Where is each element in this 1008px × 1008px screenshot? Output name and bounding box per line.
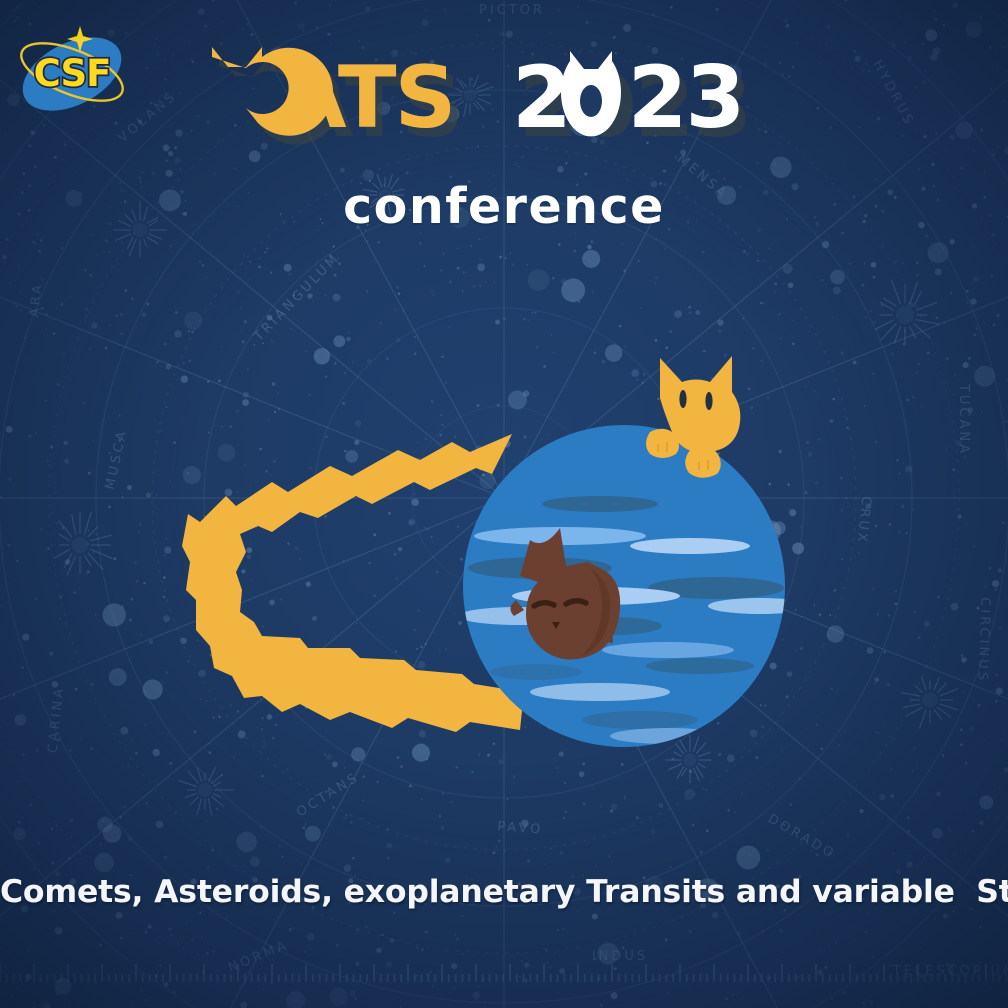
poster-tagline: Comets, Asteroids, exoplanetary Transits…	[0, 874, 1008, 910]
subtitle-conference: conference	[0, 178, 1008, 235]
title-cats: ATS	[212, 47, 454, 148]
peeking-cat-eye-left	[679, 390, 686, 408]
constellation-label: INDUS	[592, 949, 648, 964]
title-cats-letters: ATS	[280, 48, 454, 148]
constellation-label: PICTOR	[479, 3, 545, 18]
constellation-label: TELESCOPIUM	[892, 964, 1008, 979]
conference-poster: PICTORHYDRUSTUCANACRUXMUSCAAPUSPAVOOCTAN…	[0, 0, 1008, 1008]
title-2023: 2 23	[512, 48, 743, 148]
title-year-digits: 2 23	[512, 48, 743, 148]
poster-title: ATS 2023 ATS 2 23	[0, 36, 1008, 156]
planet	[458, 425, 812, 747]
cat-eye-right	[566, 601, 586, 604]
peeking-cat-paw-right	[685, 447, 721, 478]
constellation-label: PAVO	[497, 819, 544, 837]
peeking-cat-eye-right	[705, 392, 712, 410]
cat-eye-left	[534, 603, 554, 606]
poster-artwork	[0, 300, 1008, 800]
